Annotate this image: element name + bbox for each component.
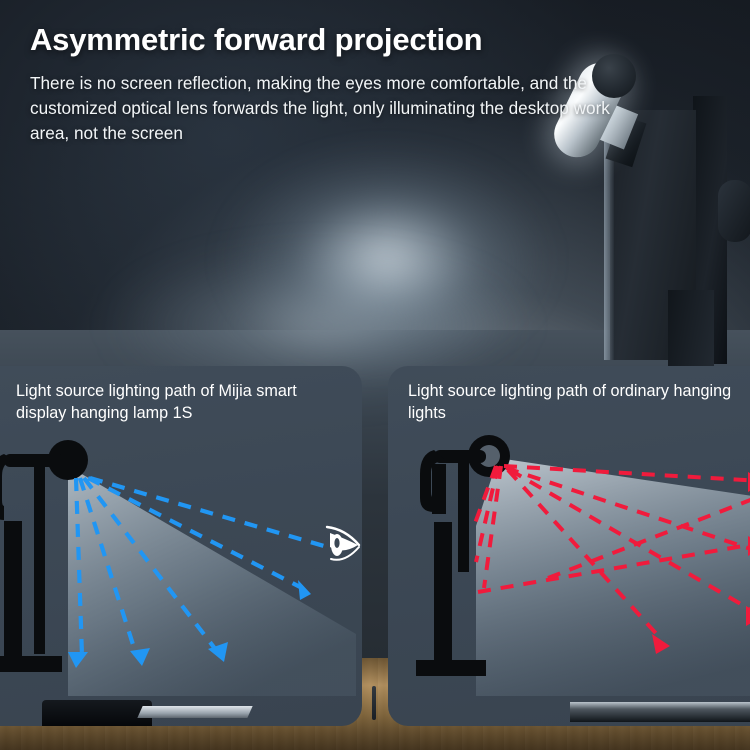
panel-left-caption: Light source lighting path of Mijia smar… [0, 380, 362, 425]
monitor-foot [42, 700, 152, 726]
monitor-neck [668, 290, 714, 370]
panel-ordinary-lamp: Light source lighting path of ordinary h… [388, 366, 750, 726]
product-feature-image: Asymmetric forward projection There is n… [0, 0, 750, 750]
cable [372, 686, 376, 720]
device-on-desk-right [570, 702, 750, 722]
light-cone-area [68, 466, 356, 696]
laptop-on-desk [137, 706, 252, 718]
panel-right-caption: Light source lighting path of ordinary h… [388, 380, 750, 425]
light-scatter-area [476, 458, 750, 696]
monitor-arm-knob [718, 180, 750, 242]
hero-copy-block: Asymmetric forward projection There is n… [30, 22, 610, 146]
eye-icon [324, 519, 364, 567]
panel-mijia-lamp: Light source lighting path of Mijia smar… [0, 366, 362, 726]
hero-subtitle: There is no screen reflection, making th… [30, 71, 610, 146]
page-title: Asymmetric forward projection [30, 22, 610, 58]
